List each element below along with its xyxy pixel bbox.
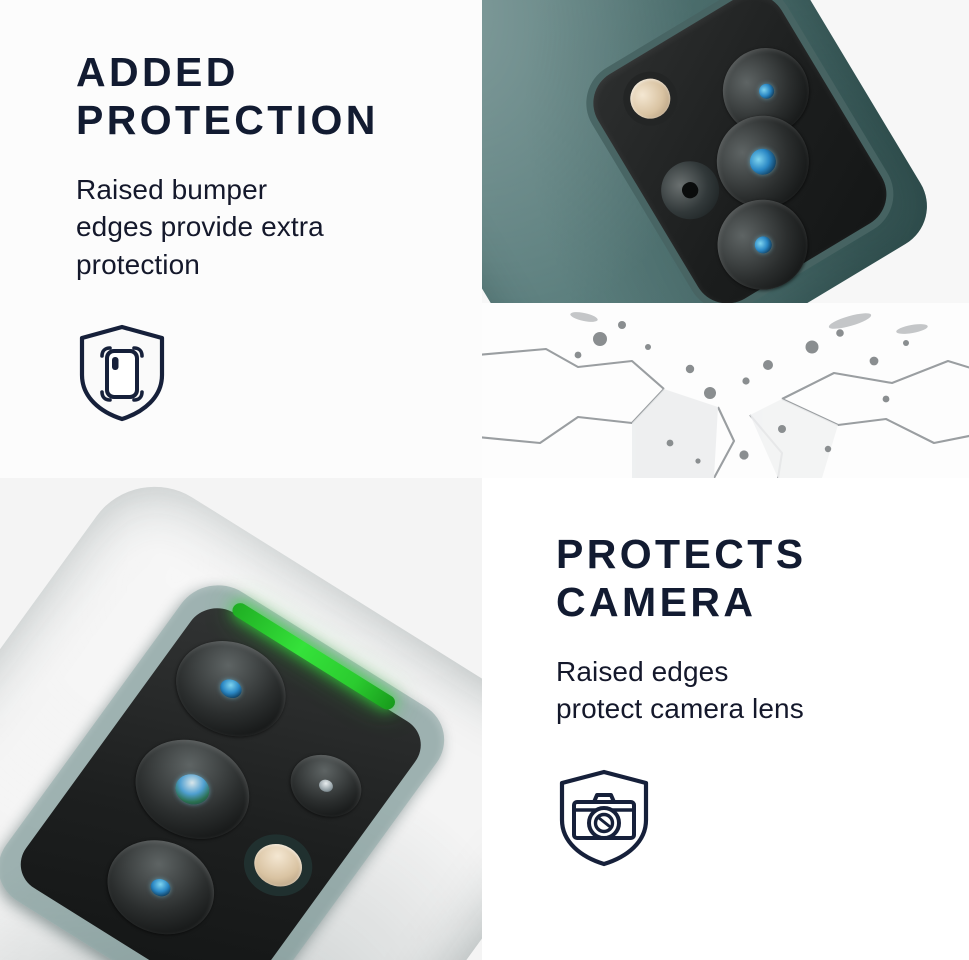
feature-infographic: ADDED PROTECTION Raised bumper edges pro… — [0, 0, 969, 960]
panel-impact-photo — [482, 0, 969, 478]
subcopy-protects-camera: Raised edges protect camera lens — [556, 653, 946, 728]
text-block-added-protection: ADDED PROTECTION Raised bumper edges pro… — [76, 48, 466, 428]
flash-lens — [623, 71, 678, 126]
shield-phone-icon — [76, 323, 466, 428]
panel-protects-camera: PROTECTS CAMERA Raised edges protect cam… — [482, 478, 969, 960]
panel-added-protection: ADDED PROTECTION Raised bumper edges pro… — [0, 0, 482, 478]
shield-camera-icon — [556, 768, 946, 873]
lens-middle — [115, 720, 270, 859]
lens-small — [278, 742, 374, 829]
flash-lens-angled — [245, 836, 310, 895]
impact-photo-stage — [482, 0, 969, 478]
phone-case-angled: + – — [0, 478, 482, 960]
camera-photo-stage: + – — [0, 478, 482, 960]
page-title-added-protection: ADDED PROTECTION — [76, 48, 466, 145]
text-block-protects-camera: PROTECTS CAMERA Raised edges protect cam… — [556, 530, 946, 873]
panel-camera-photo: + – — [0, 478, 482, 960]
page-title-protects-camera: PROTECTS CAMERA — [556, 530, 946, 627]
lens-bottom-angled — [88, 821, 234, 953]
cracked-surface — [482, 303, 969, 478]
subcopy-added-protection: Raised bumper edges provide extra protec… — [76, 171, 466, 284]
